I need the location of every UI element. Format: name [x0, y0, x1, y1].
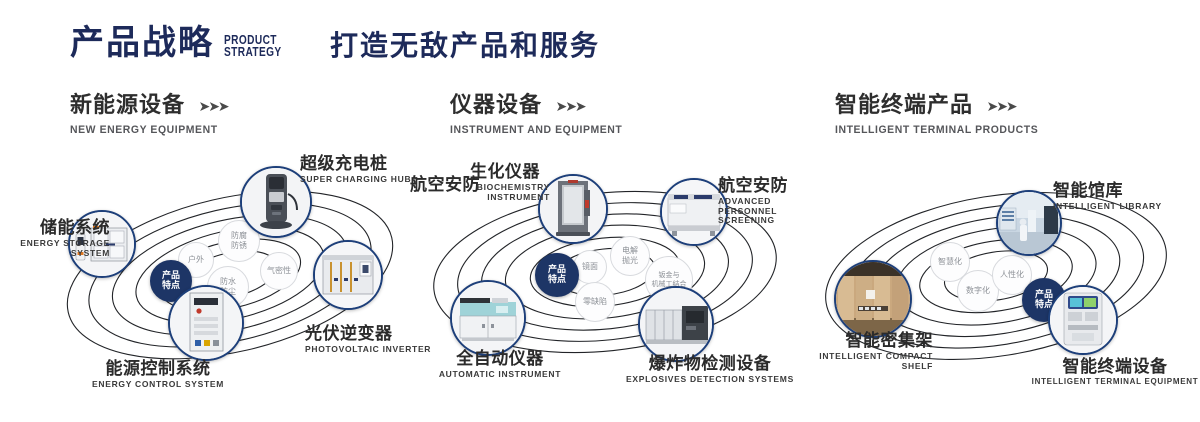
feature-bubble: 电解 抛光 — [610, 236, 650, 276]
core-bubble-product-features: 产品特点 — [535, 253, 579, 297]
explosives-detector-photo — [640, 288, 712, 360]
label-energy-storage-system: 储能系统 ENERGY STORAGE SYSTEM — [8, 219, 110, 258]
cluster-new-energy: 户外 防腐 防锈 防水 防尘 气密性 产品特点 — [40, 160, 420, 390]
section-heading-zh: 仪器设备 — [450, 95, 542, 117]
label-advanced-personnel-screening: 航空安防 ADVANCED PERSONNEL SCREENING — [718, 177, 800, 225]
compact-shelf-photo — [836, 262, 910, 336]
automatic-instrument-photo — [452, 282, 524, 354]
library-interior-photo — [998, 192, 1060, 254]
label-automatic-instrument: 全自动仪器 AUTOMATIC INSTRUMENT — [425, 350, 575, 380]
section-heading-zh: 智能终端产品 — [835, 95, 973, 117]
inverter-cabinet-photo — [315, 242, 381, 308]
node-explosives-detection-systems[interactable] — [638, 286, 714, 362]
node-automatic-instrument[interactable] — [450, 280, 526, 356]
page-title-zh: 产品战略 — [70, 26, 214, 60]
label-intelligent-terminal-equipment: 智能终端设备 INTELLIGENT TERMINAL EQUIPMENT — [1030, 358, 1200, 387]
chevron-right-icon: ➤➤➤ — [198, 98, 227, 115]
feature-bubble: 零缺陷 — [575, 282, 615, 322]
chevron-right-icon: ➤➤➤ — [986, 98, 1015, 115]
label-intelligent-library: 智能馆库 INTELLIGENT LIBRARY — [1053, 182, 1162, 212]
page-title: 产品战略 PRODUCT STRATEGY — [70, 26, 298, 60]
chevron-right-icon: ➤➤➤ — [555, 98, 584, 115]
section-heading-zh: 新能源设备 — [70, 95, 185, 117]
product-strategy-infographic: 产品战略 PRODUCT STRATEGY 打造无敌产品和服务 新能源设备 ➤➤… — [0, 0, 1200, 422]
section-heading-en: NEW ENERGY EQUIPMENT — [70, 124, 220, 136]
section-heading-en: INTELLIGENT TERMINAL PRODUCTS — [835, 124, 1038, 136]
node-intelligent-compact-shelf[interactable] — [834, 260, 912, 338]
section-heading-instrument: 仪器设备 ➤➤➤ INSTRUMENT AND EQUIPMENT — [450, 95, 631, 136]
node-photovoltaic-inverter[interactable] — [313, 240, 383, 310]
section-heading-en: INSTRUMENT AND EQUIPMENT — [450, 124, 622, 136]
label-intelligent-compact-shelf: 智能密集架 INTELLIGENT COMPACT SHELF — [805, 332, 933, 371]
section-heading-new-energy: 新能源设备 ➤➤➤ NEW ENERGY EQUIPMENT — [70, 95, 228, 136]
self-service-kiosk-photo — [1050, 287, 1116, 353]
section-heading-intelligent-terminal: 智能终端产品 ➤➤➤ INTELLIGENT TERMINAL PRODUCTS — [835, 95, 1049, 136]
node-intelligent-terminal-equipment[interactable] — [1048, 285, 1118, 355]
control-cabinet-photo — [170, 287, 242, 359]
page-subtitle: 打造无敌产品和服务 — [330, 32, 600, 60]
screening-machine-photo — [662, 180, 726, 244]
page-title-en: PRODUCT STRATEGY — [224, 34, 282, 58]
feature-bubble: 气密性 — [260, 252, 298, 290]
label-explosives-detection-systems: 爆炸物检测设备 EXPLOSIVES DETECTION SYSTEMS — [620, 355, 800, 385]
label-super-charging-hub: 超级充电桩 SUPER CHARGING HUB — [300, 155, 411, 185]
label-energy-control-system: 能源控制系统 ENERGY CONTROL SYSTEM — [78, 360, 238, 390]
node-energy-control-system[interactable] — [168, 285, 244, 361]
label-biochemistry-instrument: 生化仪器 BIOCHEMISTRY INSTRUMENT — [470, 163, 550, 202]
